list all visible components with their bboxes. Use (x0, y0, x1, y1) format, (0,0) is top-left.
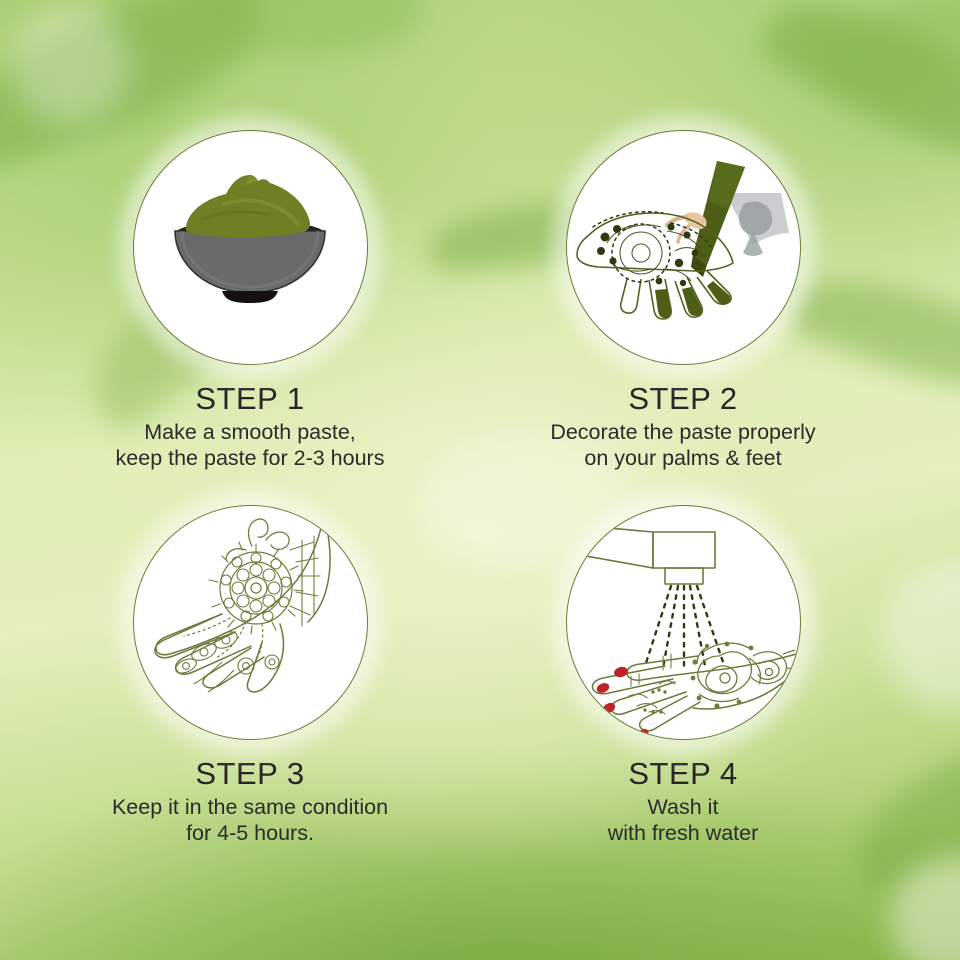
step-2-title: STEP 2 (468, 383, 898, 416)
step-3-description: Keep it in the same condition for 4-5 ho… (35, 794, 465, 846)
bowl-of-henna-paste-icon (134, 131, 367, 364)
step-2-illustration (566, 130, 801, 365)
steps-grid: STEP 1 Make a smooth paste, keep the pas… (0, 0, 960, 960)
step-4-description: Wash it with fresh water (468, 794, 898, 846)
step-2-description: Decorate the paste properly on your palm… (468, 419, 898, 471)
step-1-title: STEP 1 (35, 383, 465, 416)
step-4-description-line-2: with fresh water (468, 820, 898, 846)
step-card-4: STEP 4 Wash it with fresh water (468, 505, 898, 846)
step-4-description-line-1: Wash it (468, 794, 898, 820)
step-3-illustration (133, 505, 368, 740)
step-2-description-line-1: Decorate the paste properly (468, 419, 898, 445)
henna-cone-decorating-hand-icon (567, 131, 800, 364)
hand-with-mehndi-design-icon (134, 506, 367, 739)
step-1-description-line-1: Make a smooth paste, (35, 419, 465, 445)
step-4-title: STEP 4 (468, 758, 898, 791)
henna-steps-infographic: STEP 1 Make a smooth paste, keep the pas… (0, 0, 960, 960)
step-3-description-line-1: Keep it in the same condition (35, 794, 465, 820)
step-3-description-line-2: for 4-5 hours. (35, 820, 465, 846)
step-card-3: STEP 3 Keep it in the same condition for… (35, 505, 465, 846)
step-card-1: STEP 1 Make a smooth paste, keep the pas… (35, 130, 465, 471)
step-3-title: STEP 3 (35, 758, 465, 791)
step-4-illustration (566, 505, 801, 740)
step-2-description-line-2: on your palms & feet (468, 445, 898, 471)
step-card-2: STEP 2 Decorate the paste properly on yo… (468, 130, 898, 471)
step-1-description-line-2: keep the paste for 2-3 hours (35, 445, 465, 471)
step-1-illustration (133, 130, 368, 365)
faucet-washing-hand-icon (567, 506, 800, 739)
step-1-description: Make a smooth paste, keep the paste for … (35, 419, 465, 471)
